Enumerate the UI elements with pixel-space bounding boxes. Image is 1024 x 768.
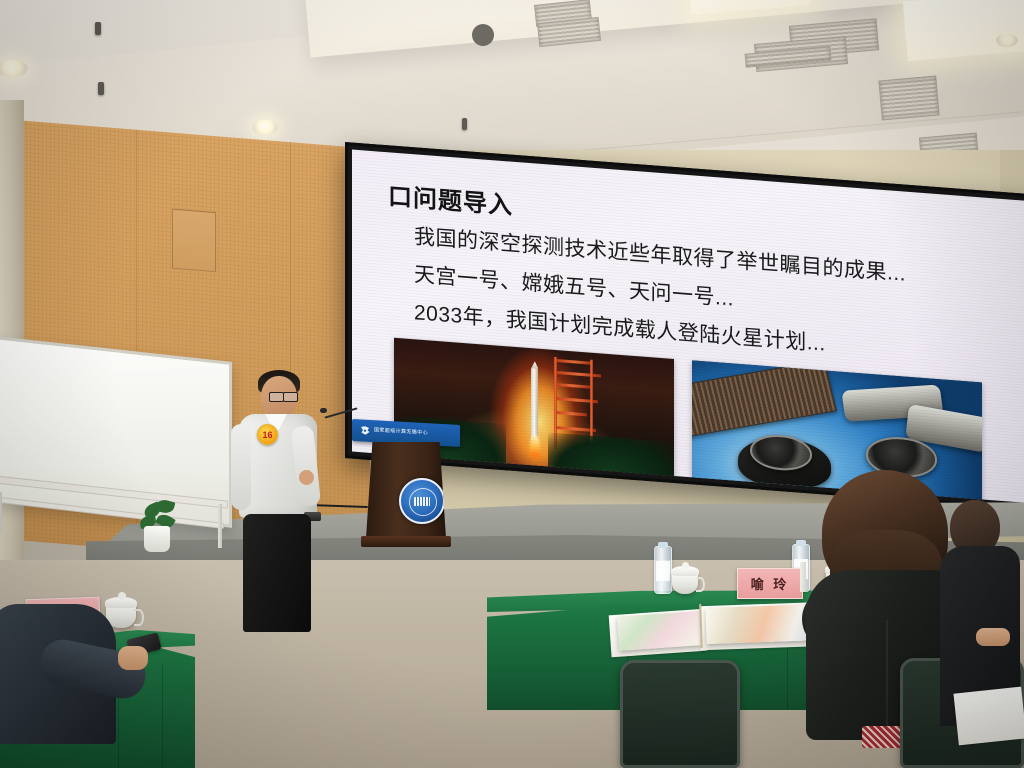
solar-panel-icon <box>692 360 837 436</box>
blazer-seam <box>886 620 888 730</box>
seated-person-left <box>0 604 158 768</box>
whiteboard <box>0 336 226 522</box>
ceiling-speaker-icon-3 <box>462 118 467 130</box>
presenter-person: 16 <box>225 366 335 634</box>
rocket-flame-icon <box>530 435 541 462</box>
presenter-hand-right <box>299 470 314 485</box>
projection-screen: 口问题导入 我国的深空探测技术近些年取得了举世瞩目的成果... 天宫一号、嫦娥五… <box>345 142 1024 462</box>
rocket-nose-icon <box>531 361 538 369</box>
left-person-hand <box>118 646 148 670</box>
skylight-panel <box>903 0 1024 61</box>
nameplate-yuling: 喻 玲 <box>737 568 803 599</box>
lidded-teacup-right <box>670 562 704 596</box>
glasses-icon-left <box>269 392 284 402</box>
ceiling-dome-sensor-icon <box>472 24 494 46</box>
lectern-body <box>366 442 446 538</box>
university-seal-icon <box>399 478 445 524</box>
potted-plant <box>138 500 178 552</box>
far-right-hand <box>976 628 1010 646</box>
whiteboard-leg-left <box>0 492 2 534</box>
slide-title: 口问题导入 <box>388 176 513 221</box>
downlight-icon-2 <box>252 120 278 135</box>
glasses-icon-right <box>283 392 298 402</box>
wall-access-panel <box>172 209 216 273</box>
lectern: 国家超级计算无锡中心 <box>352 420 460 548</box>
lectern-base <box>361 536 451 547</box>
presenter-trousers <box>243 514 311 632</box>
paper-far-right <box>953 687 1024 746</box>
open-booklet-1 <box>617 611 701 651</box>
chair-center-rim <box>620 660 740 768</box>
presenter-number-badge: 16 <box>257 424 278 445</box>
institute-logo-icon <box>359 425 371 436</box>
rocket-body-icon <box>531 367 538 441</box>
conference-room-photo: 口问题导入 我国的深空探测技术近些年取得了举世瞩目的成果... 天宫一号、嫦娥五… <box>0 0 1024 768</box>
air-vent-icon-6 <box>878 76 939 121</box>
plant-pot <box>144 526 170 552</box>
ceiling-speaker-icon-1 <box>95 22 101 35</box>
downlight-icon-6 <box>996 34 1018 47</box>
lectern-banner-text: 国家超级计算无锡中心 <box>374 426 428 436</box>
presenter-arm-left <box>231 424 251 510</box>
ceiling-speaker-icon-2 <box>98 82 104 95</box>
whiteboard-leg-right <box>218 504 222 548</box>
